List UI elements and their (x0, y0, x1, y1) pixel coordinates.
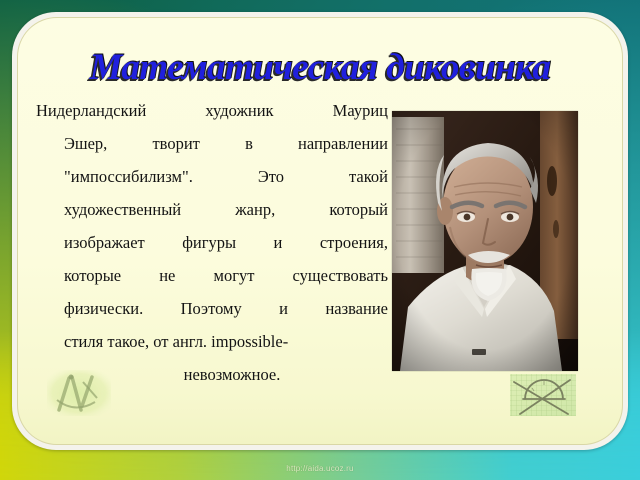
body-line: стиля такое, от англ. impossible- (36, 325, 388, 358)
slide-title: Математическая диковинка (18, 46, 622, 89)
escher-portrait-photo (392, 111, 578, 371)
body-line: "импоссибилизм". Это такой (36, 160, 388, 193)
slide-body-text: Нидерландский художник Мауриц Эшер, твор… (36, 94, 388, 391)
body-line: художественный жанр, который (36, 193, 388, 226)
slide-card-surface: Математическая диковинка Нидерландский х… (17, 17, 623, 445)
slide-card-frame: Математическая диковинка Нидерландский х… (12, 12, 628, 450)
watermark-url: http://aida.ucoz.ru (286, 464, 353, 473)
protractor-compass-icon (506, 370, 580, 420)
body-line: Нидерландский художник Мауриц (36, 94, 388, 127)
body-line: которые не могут существовать (36, 259, 388, 292)
body-line: изображает фигуры и строения, (36, 226, 388, 259)
body-line: физически. Поэтому и название (36, 292, 388, 325)
drafting-tools-icon (45, 368, 113, 418)
portrait-image (392, 111, 578, 371)
watermark-strip: http://aida.ucoz.ru (0, 456, 640, 480)
body-line: Эшер, творит в направлении (36, 127, 388, 160)
